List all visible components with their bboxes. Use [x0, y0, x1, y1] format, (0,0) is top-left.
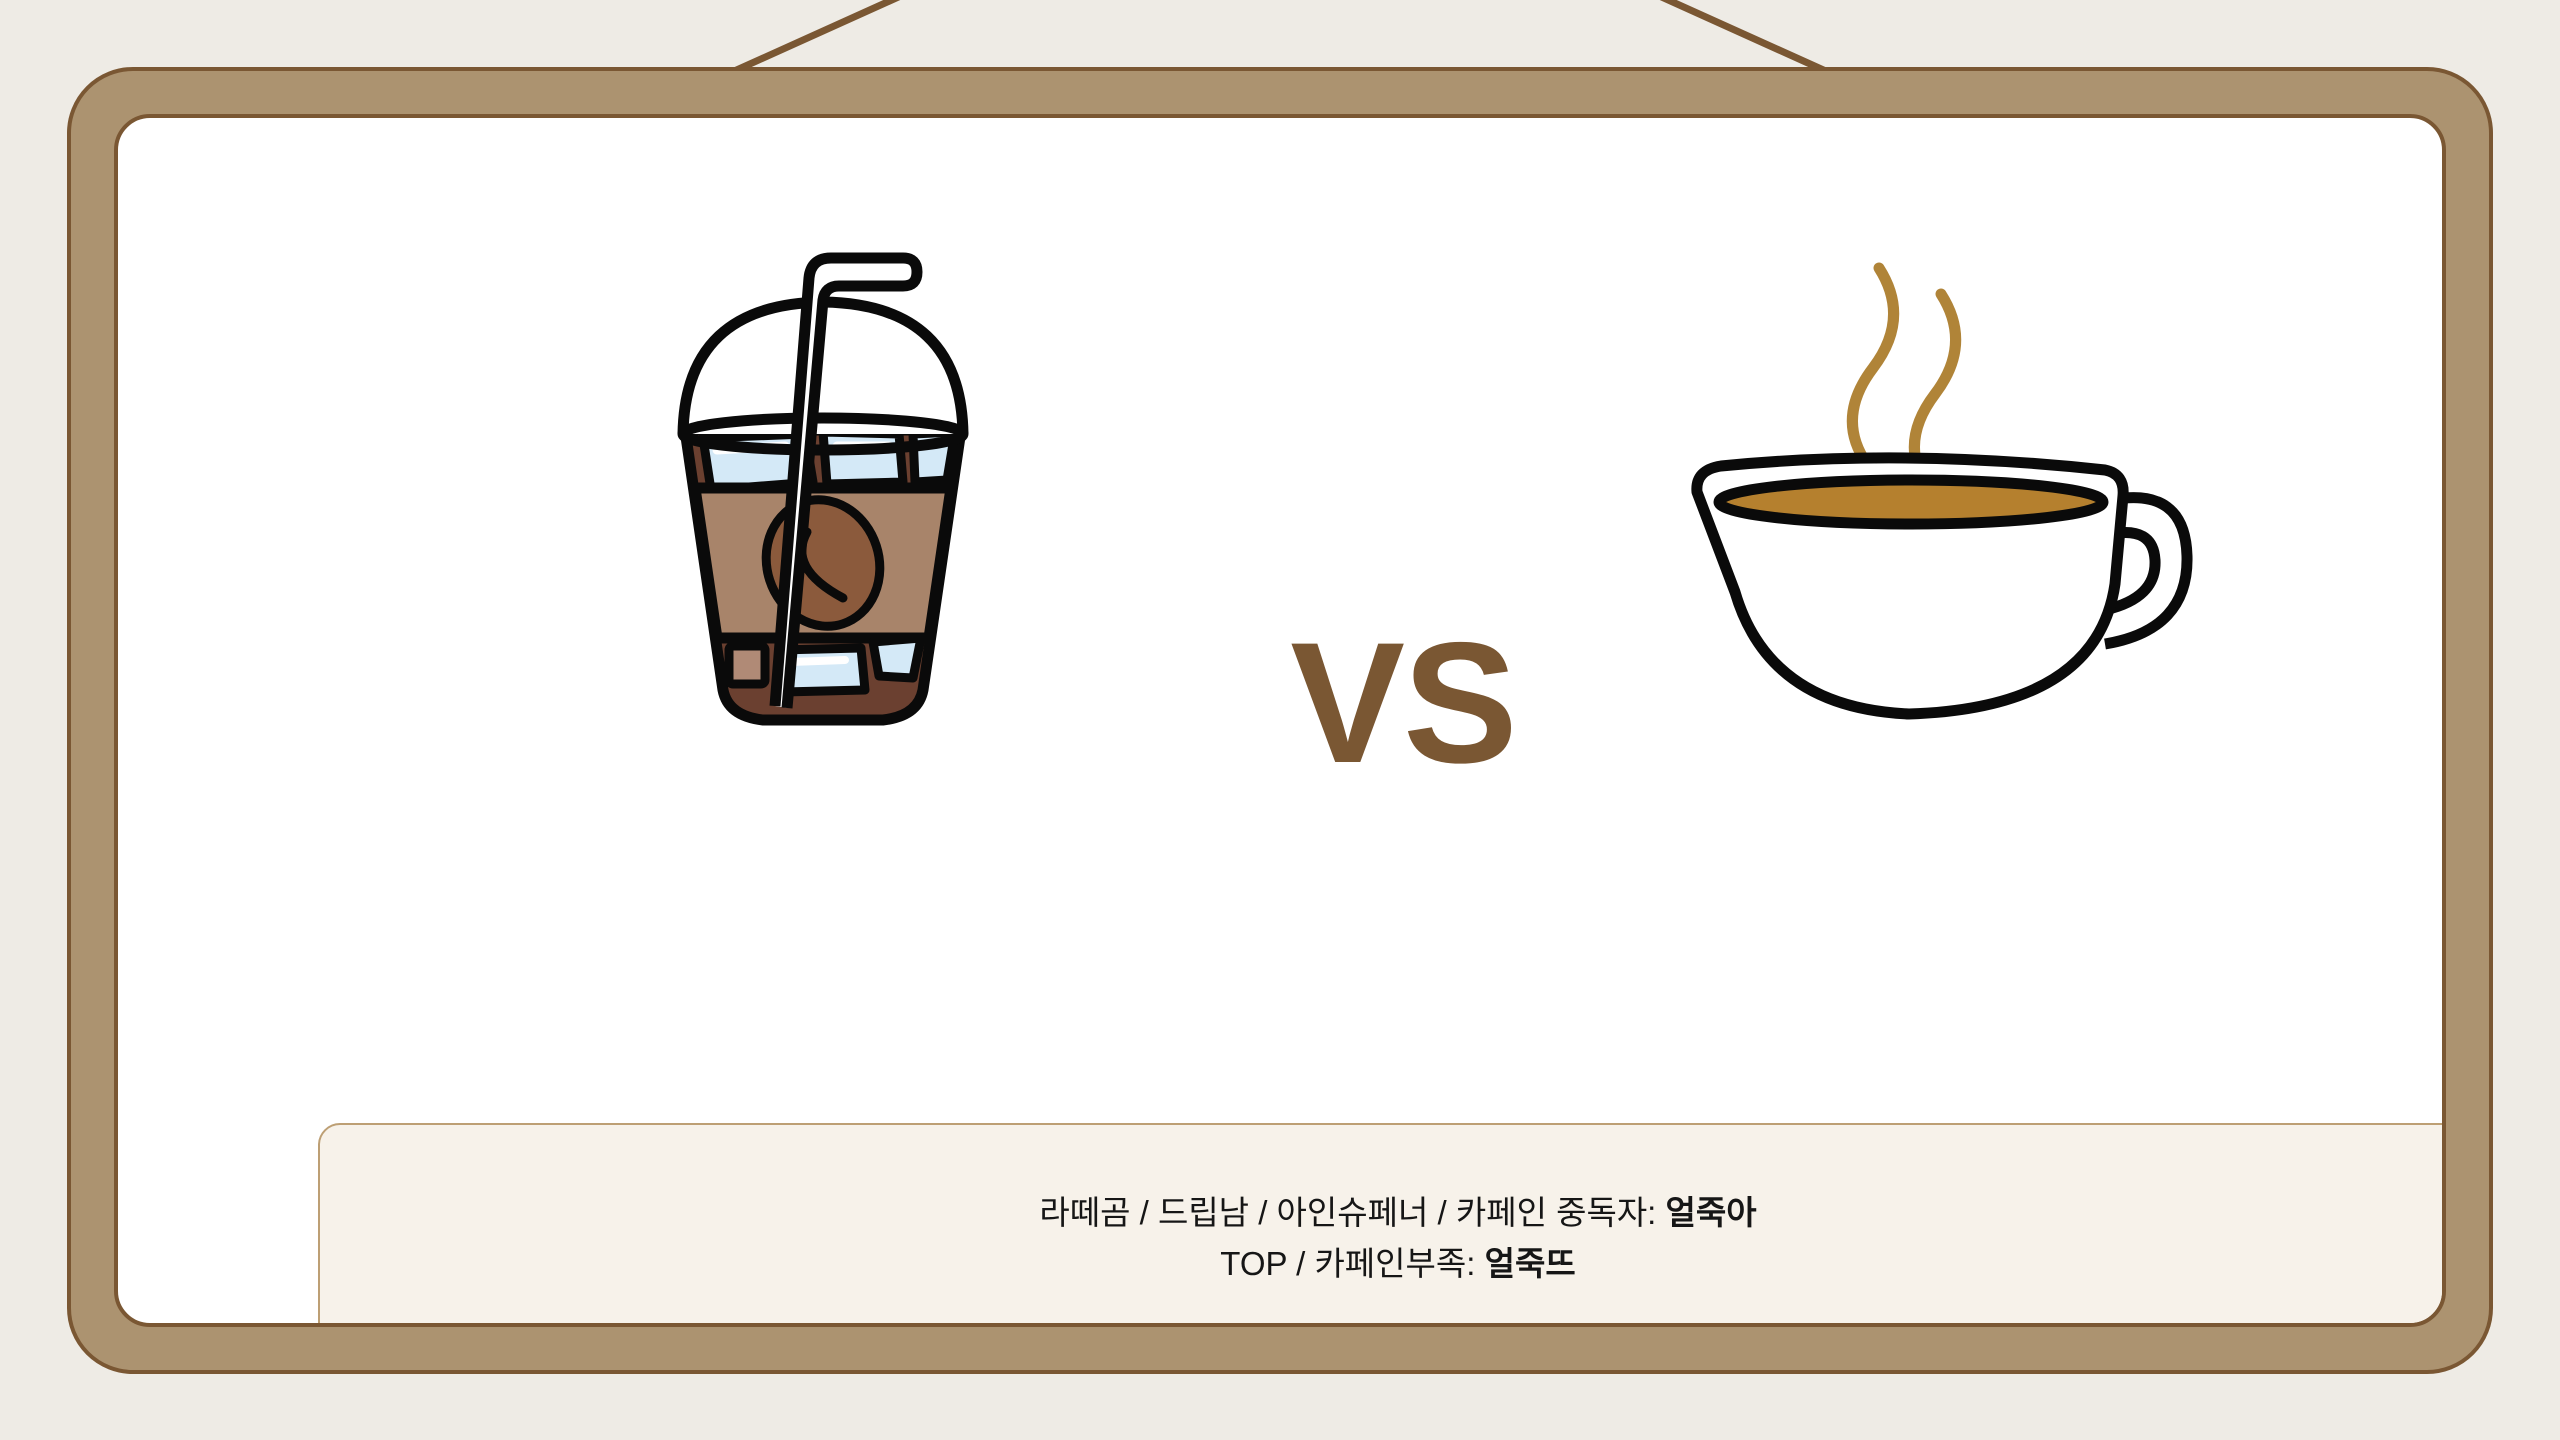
caption-line-2-prefix: TOP / 카페인부족:	[1220, 1245, 1484, 1282]
caption-line-1-prefix: 라떼곰 / 드립남 / 아인슈페너 / 카페인 중독자:	[1039, 1194, 1665, 1231]
iced-coffee-cup	[573, 238, 1073, 738]
picture-frame: VS	[67, 67, 2493, 1374]
versus-label: VS	[1203, 613, 1603, 793]
slide-content: VS	[118, 118, 2442, 1323]
caption-line-2-strong: 얼죽뜨	[1485, 1245, 1576, 1282]
caption-line-2: TOP / 카페인부족: 얼죽뜨	[1220, 1238, 1575, 1289]
coffee-surface	[1719, 480, 2103, 524]
caption-line-1-strong: 얼죽아	[1666, 1194, 1757, 1231]
frame-canvas: VS	[114, 114, 2446, 1327]
caption-line-1: 라떼곰 / 드립남 / 아인슈페너 / 카페인 중독자: 얼죽아	[1039, 1187, 1756, 1238]
hot-coffee-cup	[1673, 238, 2233, 738]
slide-canvas: VS	[0, 0, 2560, 1440]
caption-box: 라떼곰 / 드립남 / 아인슈페너 / 카페인 중독자: 얼죽아 TOP / 카…	[318, 1123, 2446, 1327]
